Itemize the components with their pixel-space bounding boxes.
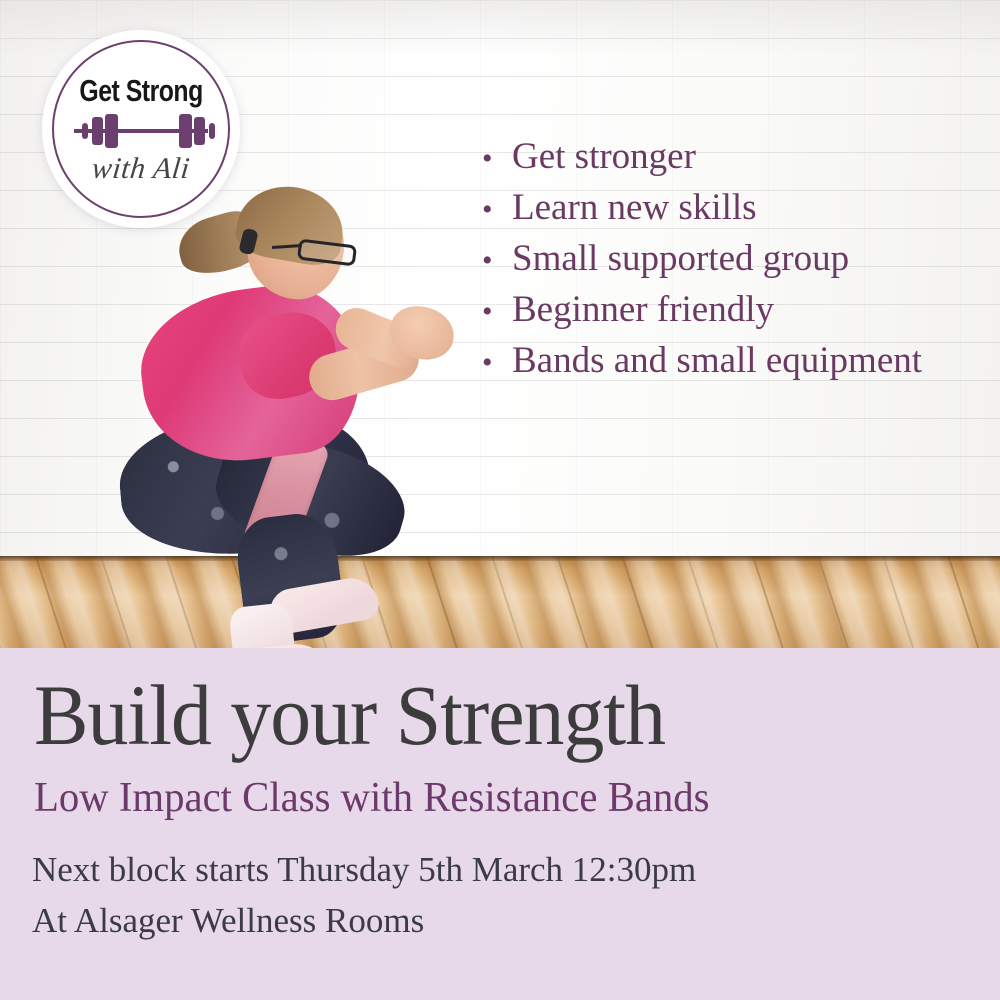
hero-photo: Get Strong with Ali • Get stronger [0,0,1000,650]
bullet-icon: • [482,134,512,183]
brand-logo-badge: Get Strong with Ali [42,30,240,228]
list-item: • Beginner friendly [482,285,992,336]
bullet-icon: • [482,185,512,234]
list-item: • Get stronger [482,132,992,183]
bullet-icon: • [482,236,512,285]
bullet-icon: • [482,287,512,336]
info-banner: Build your Strength Low Impact Class wit… [0,648,1000,1000]
dumbbell-cap-right [209,123,215,139]
list-item-label: Get stronger [512,132,696,181]
list-item: • Small supported group [482,234,992,285]
location-text: At Alsager Wellness Rooms [32,903,424,938]
dumbbell-plate [105,114,118,148]
dumbbell-cap-left [82,123,88,139]
page-subtitle: Low Impact Class with Resistance Bands [34,777,709,819]
dumbbell-plate [92,117,103,145]
dumbbell-icon [66,114,216,148]
benefits-list: • Get stronger • Learn new skills • Smal… [482,132,992,387]
list-item-label: Small supported group [512,234,849,283]
schedule-text: Next block starts Thursday 5th March 12:… [32,852,696,887]
page-title: Build your Strength [34,672,665,758]
list-item-label: Learn new skills [512,183,757,232]
list-item: • Learn new skills [482,183,992,234]
logo-content: Get Strong with Ali [42,30,240,228]
dumbbell-plate [194,117,205,145]
list-item-label: Beginner friendly [512,285,774,334]
dumbbell-plate [179,114,192,148]
logo-title: Get Strong [79,73,202,109]
squatting-woman-illustration [120,185,470,650]
fitness-class-poster: Get Strong with Ali • Get stronger [0,0,1000,1000]
list-item-label: Bands and small equipment [512,336,922,385]
bullet-icon: • [482,338,512,387]
list-item: • Bands and small equipment [482,336,992,387]
logo-subtitle: with Ali [90,152,191,186]
